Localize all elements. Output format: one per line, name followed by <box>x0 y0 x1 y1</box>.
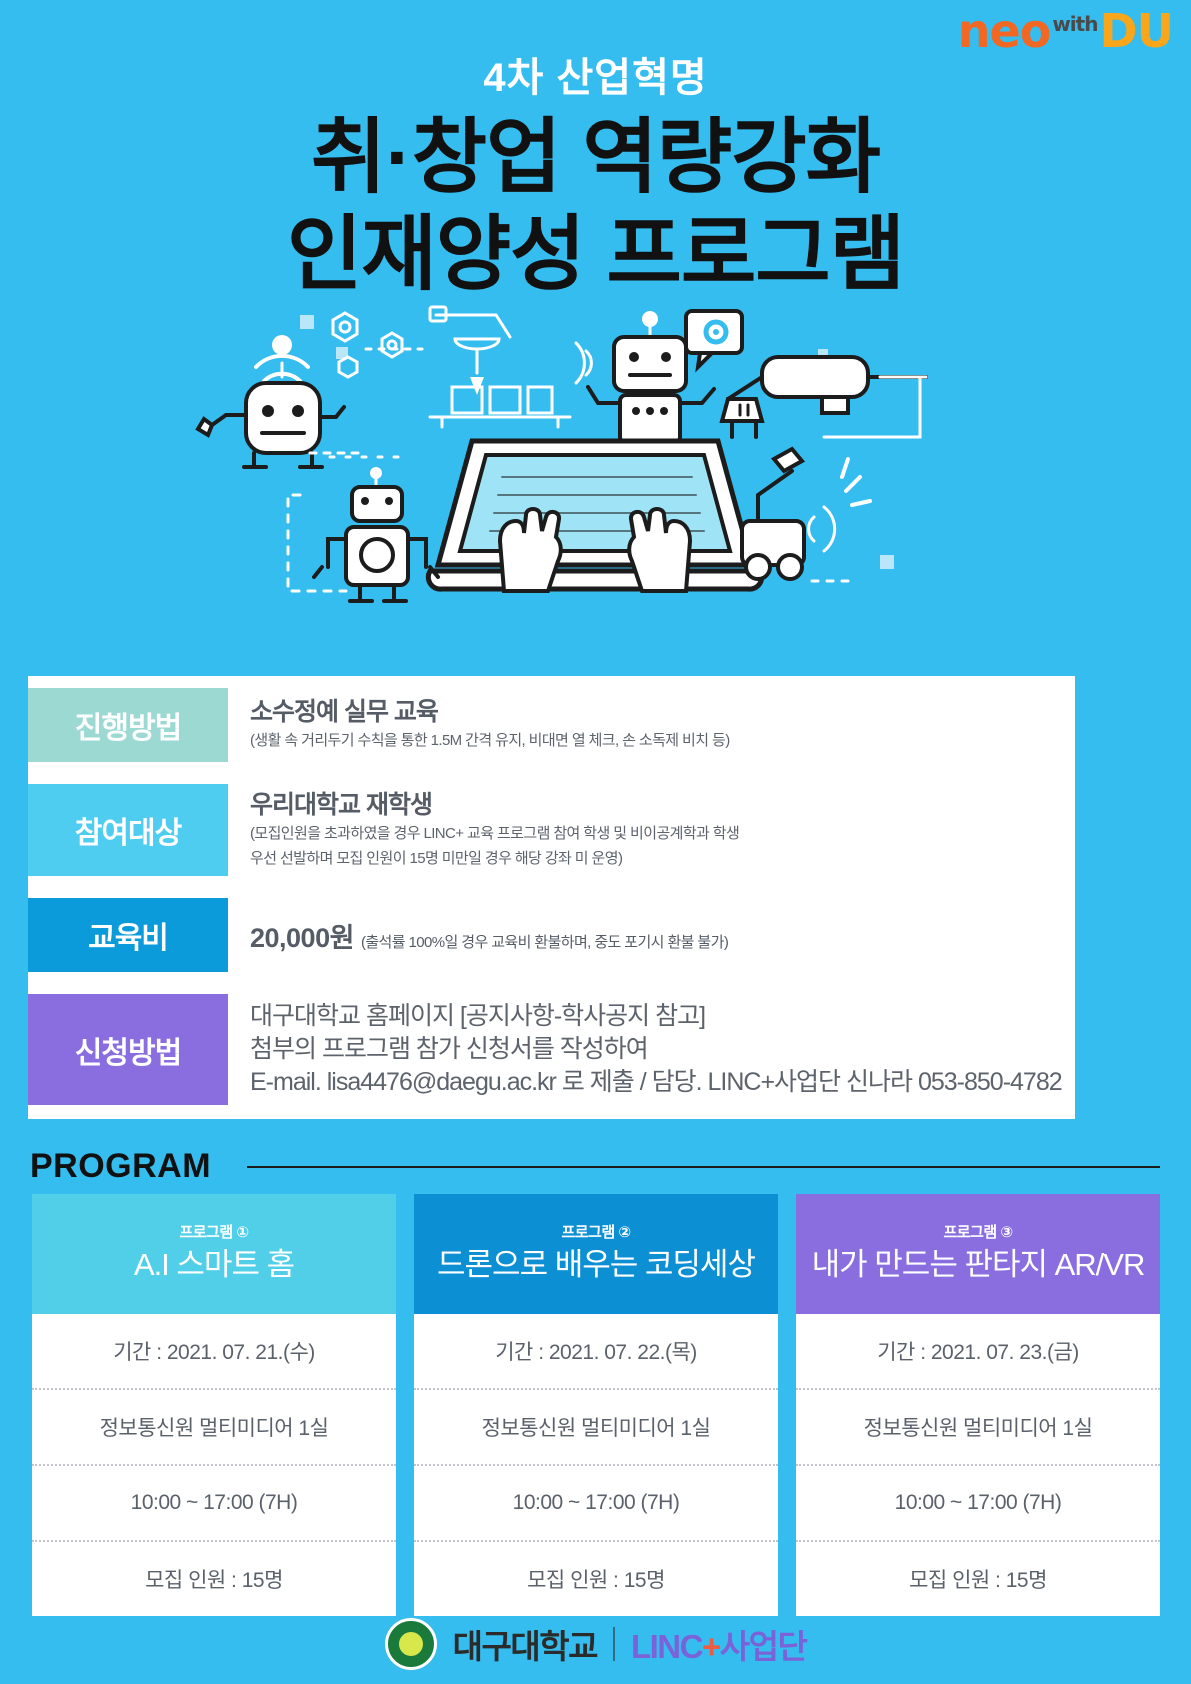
info-sub-target-2: 우선 선발하며 모집 인원이 15명 미만일 경우 해당 강좌 미 운영) <box>250 848 1075 871</box>
apply-line-3-contact: E-mail. lisa4476@daegu.ac.kr 로 제출 / 담당. … <box>250 1066 1075 1099</box>
info-sub-target-1: (모집인원을 초과하였을 경우 LINC+ 교육 프로그램 참여 학생 및 비이… <box>250 823 1075 846</box>
program-card-3-place: 정보통신원 멀티미디어 1실 <box>796 1388 1160 1464</box>
fee-note: (출석률 100%일 경우 교육비 환불하며, 중도 포기시 환불 불가) <box>361 934 728 951</box>
info-row-method: 진행방법 소수정예 실무 교육 (생활 속 거리두기 수칙을 통한 1.5M 간… <box>28 688 1075 762</box>
program-card-1-title: A.I 스마트 홈 <box>38 1247 390 1284</box>
apply-line-1: 대구대학교 홈페이지 [공지사항-학사공지 참고] <box>250 1000 1075 1033</box>
program-card-2[interactable]: 프로그램 ② 드론으로 배우는 코딩세상 기간 : 2021. 07. 22.(… <box>414 1194 778 1616</box>
info-row-apply: 신청방법 대구대학교 홈페이지 [공지사항-학사공지 참고] 첨부의 프로그램 … <box>28 994 1075 1105</box>
row-gap-2 <box>28 876 1075 898</box>
row-gap-1 <box>28 762 1075 784</box>
footer-linc-kr: 사업단 <box>720 1628 807 1665</box>
program-card-2-period: 기간 : 2021. 07. 22.(목) <box>414 1314 778 1388</box>
info-label-fee: 교육비 <box>28 898 228 972</box>
program-card-3-tag: 프로그램 ③ <box>802 1221 1154 1242</box>
program-card-1-body: 기간 : 2021. 07. 21.(수) 정보통신원 멀티미디어 1실 10:… <box>32 1314 396 1616</box>
program-card-2-tag: 프로그램 ② <box>420 1221 772 1242</box>
program-cards: 프로그램 ① A.I 스마트 홈 기간 : 2021. 07. 21.(수) 정… <box>32 1194 1160 1616</box>
du-wordmark: DU <box>1099 8 1173 54</box>
apply-line-2: 첨부의 프로그램 참가 신청서를 작성하여 <box>250 1033 1075 1066</box>
footer-divider <box>613 1627 615 1661</box>
info-body-method: 소수정예 실무 교육 (생활 속 거리두기 수칙을 통한 1.5M 간격 유지,… <box>228 688 1075 762</box>
program-card-3-title: 내가 만드는 판타지 AR/VR <box>802 1247 1154 1284</box>
info-label-apply: 신청방법 <box>28 994 228 1105</box>
info-sub-method: (생활 속 거리두기 수칙을 통한 1.5M 간격 유지, 비대면 열 체크, … <box>250 730 1075 753</box>
info-body-fee: 20,000원 (출석률 100%일 경우 교육비 환불하며, 중도 포기시 환… <box>228 898 1075 972</box>
program-card-3-body: 기간 : 2021. 07. 23.(금) 정보통신원 멀티미디어 1실 10:… <box>796 1314 1160 1616</box>
footer-linc-plus: + <box>702 1628 720 1665</box>
industry-4-illustration <box>0 305 1191 615</box>
program-card-1-place: 정보통신원 멀티미디어 1실 <box>32 1388 396 1464</box>
program-card-2-capacity: 모집 인원 : 15명 <box>414 1540 778 1616</box>
fee-amount: 20,000원 <box>250 923 354 953</box>
program-heading: PROGRAM <box>30 1147 1160 1186</box>
program-card-1[interactable]: 프로그램 ① A.I 스마트 홈 기간 : 2021. 07. 21.(수) 정… <box>32 1194 396 1616</box>
program-card-2-title: 드론으로 배우는 코딩세상 <box>420 1247 772 1284</box>
program-card-3-period: 기간 : 2021. 07. 23.(금) <box>796 1314 1160 1388</box>
info-row-target: 참여대상 우리대학교 재학생 (모집인원을 초과하였을 경우 LINC+ 교육 … <box>28 784 1075 876</box>
info-title-method: 소수정예 실무 교육 <box>250 697 1075 728</box>
footer-linc-logo: LINC+사업단 <box>631 1620 806 1668</box>
info-row-fee: 교육비 20,000원 (출석률 100%일 경우 교육비 환불하며, 중도 포… <box>28 898 1075 972</box>
info-label-method: 진행방법 <box>28 688 228 762</box>
poster-root: neo with DU 4차 산업혁명 취·창업 역량강화 인재양성 프로그램 <box>0 0 1191 1684</box>
program-card-2-header: 프로그램 ② 드론으로 배우는 코딩세상 <box>414 1194 778 1314</box>
neo-wordmark: neo <box>958 8 1051 54</box>
program-heading-text: PROGRAM <box>30 1147 211 1186</box>
headline-eyebrow: 4차 산업혁명 <box>0 58 1191 98</box>
program-card-3-capacity: 모집 인원 : 15명 <box>796 1540 1160 1616</box>
program-heading-rule <box>247 1166 1160 1168</box>
program-card-3-header: 프로그램 ③ 내가 만드는 판타지 AR/VR <box>796 1194 1160 1314</box>
info-panel: 진행방법 소수정예 실무 교육 (생활 속 거리두기 수칙을 통한 1.5M 간… <box>28 676 1075 1119</box>
program-card-2-time: 10:00 ~ 17:00 (7H) <box>414 1464 778 1540</box>
program-card-1-period: 기간 : 2021. 07. 21.(수) <box>32 1314 396 1388</box>
footer-university-name: 대구대학교 <box>453 1620 597 1668</box>
program-card-2-place: 정보통신원 멀티미디어 1실 <box>414 1388 778 1464</box>
program-card-1-time: 10:00 ~ 17:00 (7H) <box>32 1464 396 1540</box>
panel-bottom-padding <box>28 1105 1075 1119</box>
footer-linc-text: LINC <box>631 1628 702 1665</box>
program-card-2-body: 기간 : 2021. 07. 22.(목) 정보통신원 멀티미디어 1실 10:… <box>414 1314 778 1616</box>
program-card-3-time: 10:00 ~ 17:00 (7H) <box>796 1464 1160 1540</box>
info-fee-line: 20,000원 (출석률 100%일 경우 교육비 환불하며, 중도 포기시 환… <box>250 916 1075 955</box>
info-body-apply: 대구대학교 홈페이지 [공지사항-학사공지 참고] 첨부의 프로그램 참가 신청… <box>228 994 1075 1105</box>
program-card-1-tag: 프로그램 ① <box>38 1221 390 1242</box>
headline-line-2: 인재양성 프로그램 <box>0 211 1191 300</box>
university-seal-icon <box>385 1618 437 1670</box>
panel-top-padding <box>28 676 1075 688</box>
headline-line-1: 취·창업 역량강화 <box>0 114 1191 203</box>
info-label-target: 참여대상 <box>28 784 228 876</box>
program-card-1-capacity: 모집 인원 : 15명 <box>32 1540 396 1616</box>
neo-with-du-logo: neo with DU <box>958 8 1173 54</box>
footer-logos: 대구대학교 LINC+사업단 <box>0 1618 1191 1670</box>
row-gap-3 <box>28 972 1075 994</box>
program-card-3[interactable]: 프로그램 ③ 내가 만드는 판타지 AR/VR 기간 : 2021. 07. 2… <box>796 1194 1160 1616</box>
with-wordmark: with <box>1052 14 1097 34</box>
program-card-1-header: 프로그램 ① A.I 스마트 홈 <box>32 1194 396 1314</box>
info-title-target: 우리대학교 재학생 <box>250 790 1075 821</box>
illustration-svg <box>0 305 1191 615</box>
info-body-target: 우리대학교 재학생 (모집인원을 초과하였을 경우 LINC+ 교육 프로그램 … <box>228 784 1075 876</box>
